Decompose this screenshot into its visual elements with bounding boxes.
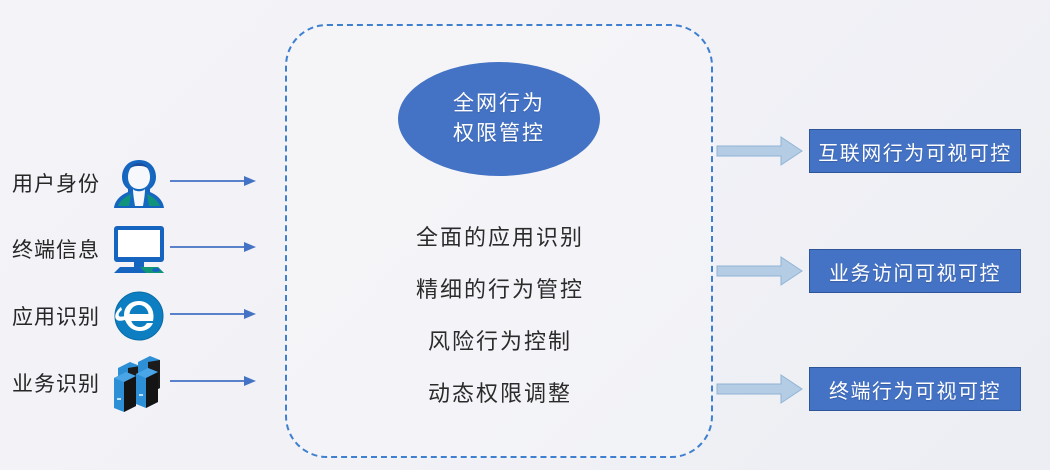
capability-item: 风险行为控制 [428,332,572,384]
outcome-arrow-terminal [717,372,803,406]
outcome-row-internet[interactable]: 互联网行为可视可控 [713,126,1050,176]
input-row-business-id[interactable]: 业务识别 [0,352,290,414]
outcome-box-terminal[interactable]: 终端行为可视可控 [809,367,1021,411]
hub-title-line-1: 全网行为 [453,89,545,119]
input-label-application-id: 应用识别 [0,301,108,331]
user-avatar-icon [108,154,170,212]
outcome-arrow-internet [717,134,803,168]
input-label-terminal-info: 终端信息 [0,234,108,264]
input-arrow-user-identity [170,173,290,193]
outcome-label: 互联网行为可视可控 [818,137,1012,166]
outcome-row-business[interactable]: 业务访问可视可控 [713,246,1050,296]
input-row-application-id[interactable]: 应用识别 [0,285,290,347]
outcome-label: 业务访问可视可控 [829,257,1001,286]
outcome-row-terminal[interactable]: 终端行为可视可控 [713,364,1050,414]
capability-item: 动态权限调整 [428,384,572,406]
desktop-monitor-icon [108,220,170,278]
input-row-user-identity[interactable]: 用户身份 [0,152,290,214]
input-arrow-terminal-info [170,239,290,259]
capability-item: 全面的应用识别 [416,228,584,280]
input-arrow-business-id [170,373,290,393]
outcome-arrow-business [717,254,803,288]
diagram-canvas: 用户身份 终端信息 [0,0,1050,470]
internet-explorer-icon [108,287,170,345]
capability-item: 精细的行为管控 [416,280,584,332]
hub-ellipse[interactable]: 全网行为 权限管控 [398,62,600,176]
input-label-business-id: 业务识别 [0,368,108,398]
outcome-box-business[interactable]: 业务访问可视可控 [809,249,1021,293]
input-arrow-application-id [170,306,290,326]
outcome-box-internet[interactable]: 互联网行为可视可控 [809,129,1021,173]
server-stack-icon [108,354,170,412]
hub-title-line-2: 权限管控 [453,119,545,149]
input-row-terminal-info[interactable]: 终端信息 [0,218,290,280]
capability-list: 全面的应用识别 精细的行为管控 风险行为控制 动态权限调整 [300,228,700,406]
outcome-label: 终端行为可视可控 [829,375,1001,404]
input-label-user-identity: 用户身份 [0,168,108,198]
